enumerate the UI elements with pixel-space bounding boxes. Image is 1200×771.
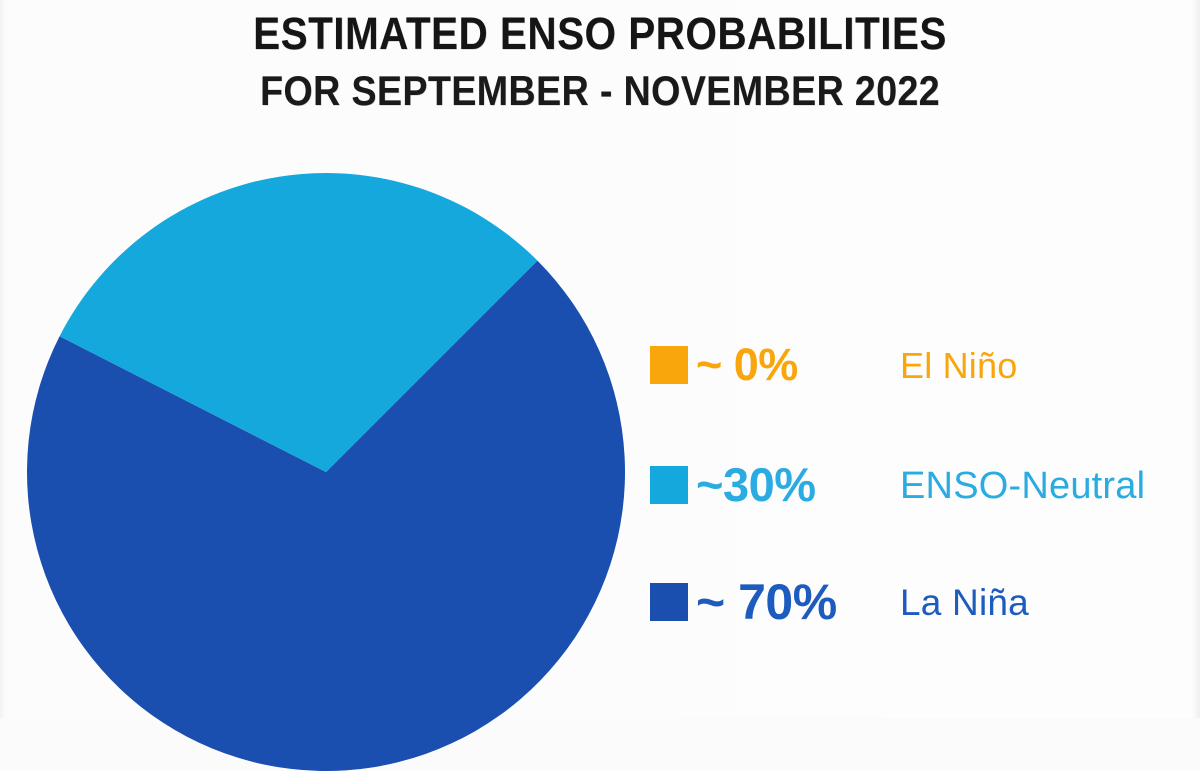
square-swatch-orange-icon: [650, 346, 688, 384]
pie-chart: [27, 173, 625, 771]
chart-title-block: ESTIMATED ENSO PROBABILITIES FOR SEPTEMB…: [0, 8, 1200, 116]
pie-chart-svg: [27, 173, 625, 771]
legend-percent-enso-neutral: ~30%: [696, 450, 816, 520]
page-subtitle: FOR SEPTEMBER - NOVEMBER 2022: [60, 66, 1140, 116]
page-title: ESTIMATED ENSO PROBABILITIES: [60, 8, 1140, 60]
square-swatch-blue-icon: [650, 583, 688, 621]
legend-label-el-nino: El Niño: [900, 333, 1017, 399]
legend-percent-el-nino: ~ 0%: [696, 330, 798, 400]
legend-percent-la-nina: ~ 70%: [696, 567, 837, 637]
legend-item-enso-neutral[interactable]: ~30% ENSO-Neutral: [648, 450, 1193, 567]
legend-label-enso-neutral: ENSO-Neutral: [900, 453, 1145, 519]
enso-probability-infographic: ESTIMATED ENSO PROBABILITIES FOR SEPTEMB…: [0, 0, 1200, 718]
square-swatch-cyan-icon: [650, 466, 688, 504]
legend: ~ 0% El Niño ~30% ENSO-Neutral ~ 70% La …: [648, 330, 1193, 685]
legend-label-la-nina: La Niña: [900, 570, 1029, 636]
legend-item-el-nino[interactable]: ~ 0% El Niño: [648, 330, 1193, 450]
pie-slices: [27, 173, 625, 771]
legend-item-la-nina[interactable]: ~ 70% La Niña: [648, 567, 1193, 685]
